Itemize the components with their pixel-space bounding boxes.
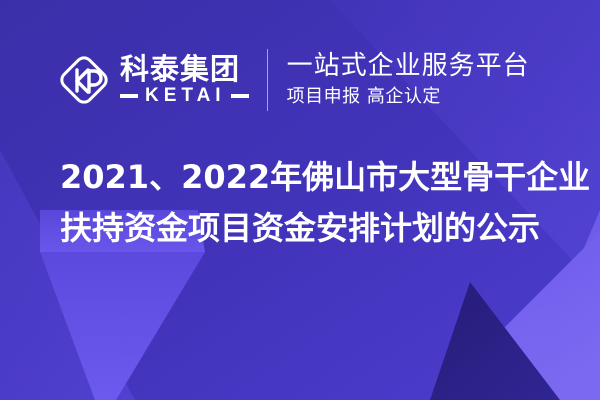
wordmark-dash-left xyxy=(120,94,138,98)
promo-banner: 科泰集团 KETAI 一站式企业服务平台 项目申报 高企认定 2021、2022… xyxy=(0,0,600,400)
brand-name-en: KETAI xyxy=(138,86,231,106)
header-divider xyxy=(267,49,268,111)
tagline-primary: 一站式企业服务平台 xyxy=(287,51,530,82)
brand-wordmark: 科泰集团 KETAI xyxy=(120,54,249,106)
brand-name-cn: 科泰集团 xyxy=(120,54,249,84)
ketai-diamond-kp-icon xyxy=(58,54,110,106)
page-title-line-2: 扶持资金项目资金安排计划的公示 xyxy=(60,203,560,254)
banner-header: 科泰集团 KETAI 一站式企业服务平台 项目申报 高企认定 xyxy=(0,42,600,118)
wordmark-dash-right xyxy=(231,94,249,98)
banner-title: 2021、2022年佛山市大型骨干企业 扶持资金项目资金安排计划的公示 xyxy=(60,152,560,254)
brand-name-en-row: KETAI xyxy=(120,86,249,106)
brand-logo[interactable]: 科泰集团 KETAI xyxy=(58,54,249,106)
page-title-line-1: 2021、2022年佛山市大型骨干企业 xyxy=(60,152,560,203)
tagline-secondary: 项目申报 高企认定 xyxy=(287,85,530,109)
tagline-group: 一站式企业服务平台 项目申报 高企认定 xyxy=(287,51,530,109)
